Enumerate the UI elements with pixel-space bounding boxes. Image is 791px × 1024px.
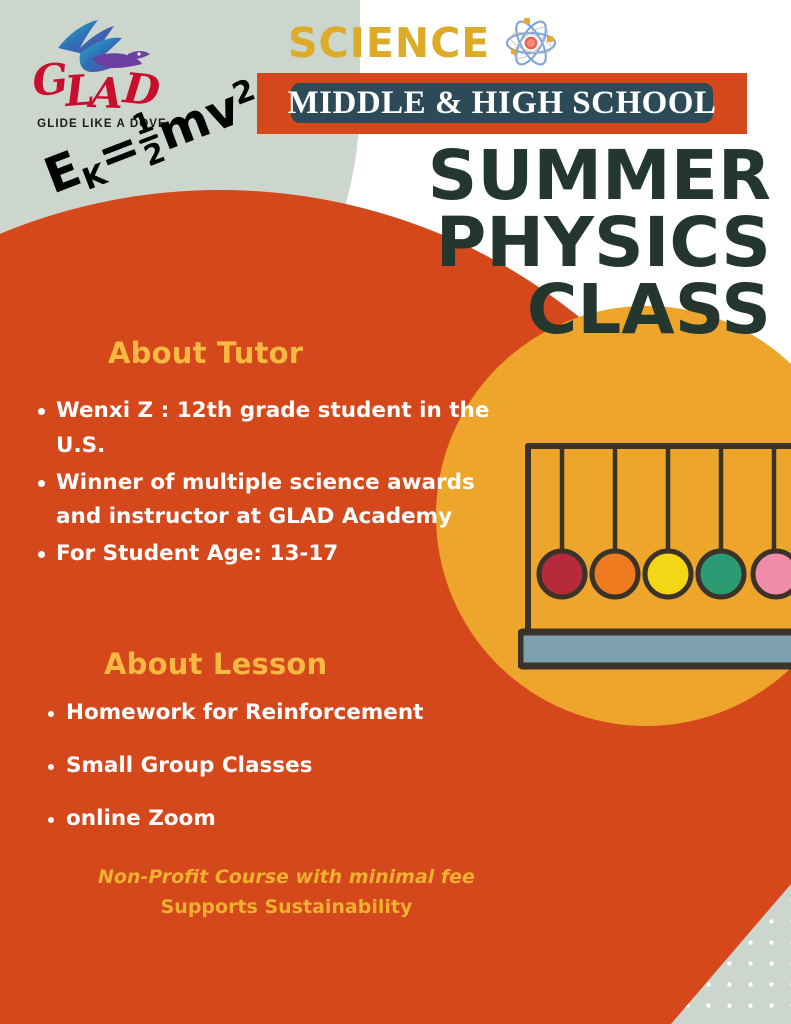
cradle-ball-2	[592, 551, 638, 597]
about-lesson-list: Homework for Reinforcement Small Group C…	[40, 698, 510, 857]
poster-title: SUMMER PHYSICS CLASS	[301, 143, 771, 344]
ribbon-label: MIDDLE & HIGH SCHOOL	[257, 73, 747, 134]
ribbon-banner: MIDDLE & HIGH SCHOOL	[257, 73, 747, 134]
about-lesson-heading: About Lesson	[104, 647, 327, 681]
newtons-cradle-illustration	[518, 424, 791, 674]
cradle-ball-4	[698, 551, 744, 597]
about-tutor-list: Wenxi Z : 12th grade student in the U.S.…	[30, 394, 500, 574]
cradle-ball-5	[753, 551, 791, 597]
footnote-text: Non-Profit Course with minimal fee Suppo…	[0, 862, 573, 923]
atom-electron	[511, 49, 516, 54]
cradle-ball-3	[645, 551, 691, 597]
science-header: SCIENCE	[288, 14, 562, 72]
list-item: For Student Age: 13-17	[30, 537, 500, 572]
footnote-line-2: Supports Sustainability	[0, 892, 573, 922]
list-item: Winner of multiple science awards and in…	[30, 466, 500, 536]
footnote-line-1: Non-Profit Course with minimal fee	[0, 862, 573, 892]
title-line-2: PHYSICS	[301, 210, 771, 277]
svg-text:A: A	[86, 68, 124, 118]
title-line-3: CLASS	[301, 277, 771, 344]
list-item: online Zoom	[40, 804, 510, 834]
cradle-base	[520, 632, 791, 666]
cradle-ball-1	[539, 551, 585, 597]
atom-electron	[547, 36, 553, 42]
list-item: Wenxi Z : 12th grade student in the U.S.	[30, 394, 500, 464]
about-tutor-heading: About Tutor	[108, 336, 303, 370]
list-item: Small Group Classes	[40, 751, 510, 781]
title-line-1: SUMMER	[301, 143, 771, 210]
list-item: Homework for Reinforcement	[40, 698, 510, 728]
science-label: SCIENCE	[288, 23, 490, 64]
atom-icon	[500, 14, 562, 72]
atom-electron	[524, 18, 530, 24]
poster-canvas: G L A D GLIDE LIKE A DOVE EK=12mv2 SCIEN…	[0, 0, 791, 1024]
